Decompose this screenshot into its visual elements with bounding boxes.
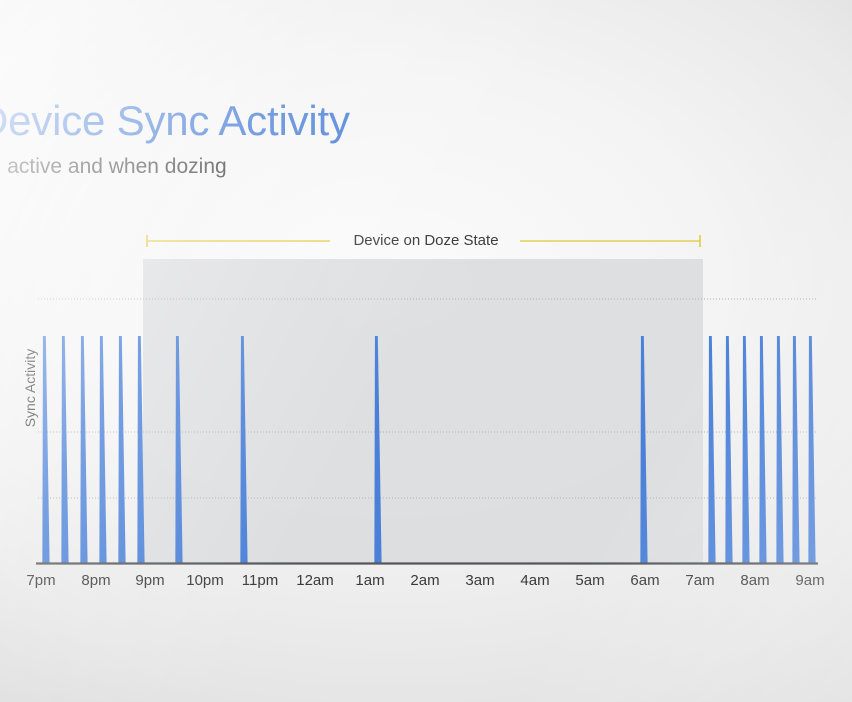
x-axis-tick-9am: 9am (795, 572, 824, 589)
x-axis-tick-8am: 8am (740, 572, 769, 589)
x-axis-tick-7am: 7am (685, 572, 714, 589)
x-axis-tick-3am: 3am (465, 572, 494, 589)
sync-spike-edge (138, 336, 139, 563)
sync-spike-edge (100, 336, 101, 563)
x-axis-tick-6am: 6am (630, 572, 659, 589)
y-axis-label: Sync Activity (22, 328, 38, 448)
sync-spike-edge (241, 336, 242, 563)
x-axis-tick-11pm: 11pm (242, 572, 278, 589)
sync-spike-edge (176, 336, 177, 563)
sync-spike-edge (743, 336, 744, 563)
sync-spike-edge (809, 336, 810, 563)
x-axis-tick-7pm: 7pm (26, 572, 55, 589)
sync-spike-edge (81, 336, 82, 563)
x-axis-tick-5am: 5am (575, 572, 604, 589)
sync-spike-edge (709, 336, 710, 563)
x-axis-tick-10pm: 10pm (186, 572, 224, 589)
sync-spike-edge (726, 336, 727, 563)
sync-spike-edge (375, 336, 376, 563)
doze-state-band (143, 259, 703, 563)
slide-canvas: Device Sync Activity en active and when … (0, 0, 852, 702)
x-axis-tick-8pm: 8pm (81, 572, 110, 589)
x-axis-tick-12am: 12am (296, 572, 334, 589)
sync-spike-edge (793, 336, 794, 563)
sync-spike-edge (641, 336, 642, 563)
sync-spike-edge (62, 336, 63, 563)
sync-spike-edge (777, 336, 778, 563)
x-axis-tick-2am: 2am (410, 572, 439, 589)
x-axis-tick-9pm: 9pm (135, 572, 164, 589)
page-title: Device Sync Activity (0, 100, 350, 142)
x-axis-tick-1am: 1am (355, 572, 384, 589)
sync-spike-edge (43, 336, 44, 563)
sync-spike-edge (119, 336, 120, 563)
doze-span-arrow (147, 235, 700, 247)
page-subtitle: en active and when dozing (0, 156, 227, 177)
x-axis-tick-4am: 4am (520, 572, 549, 589)
sync-spike-edge (760, 336, 761, 563)
